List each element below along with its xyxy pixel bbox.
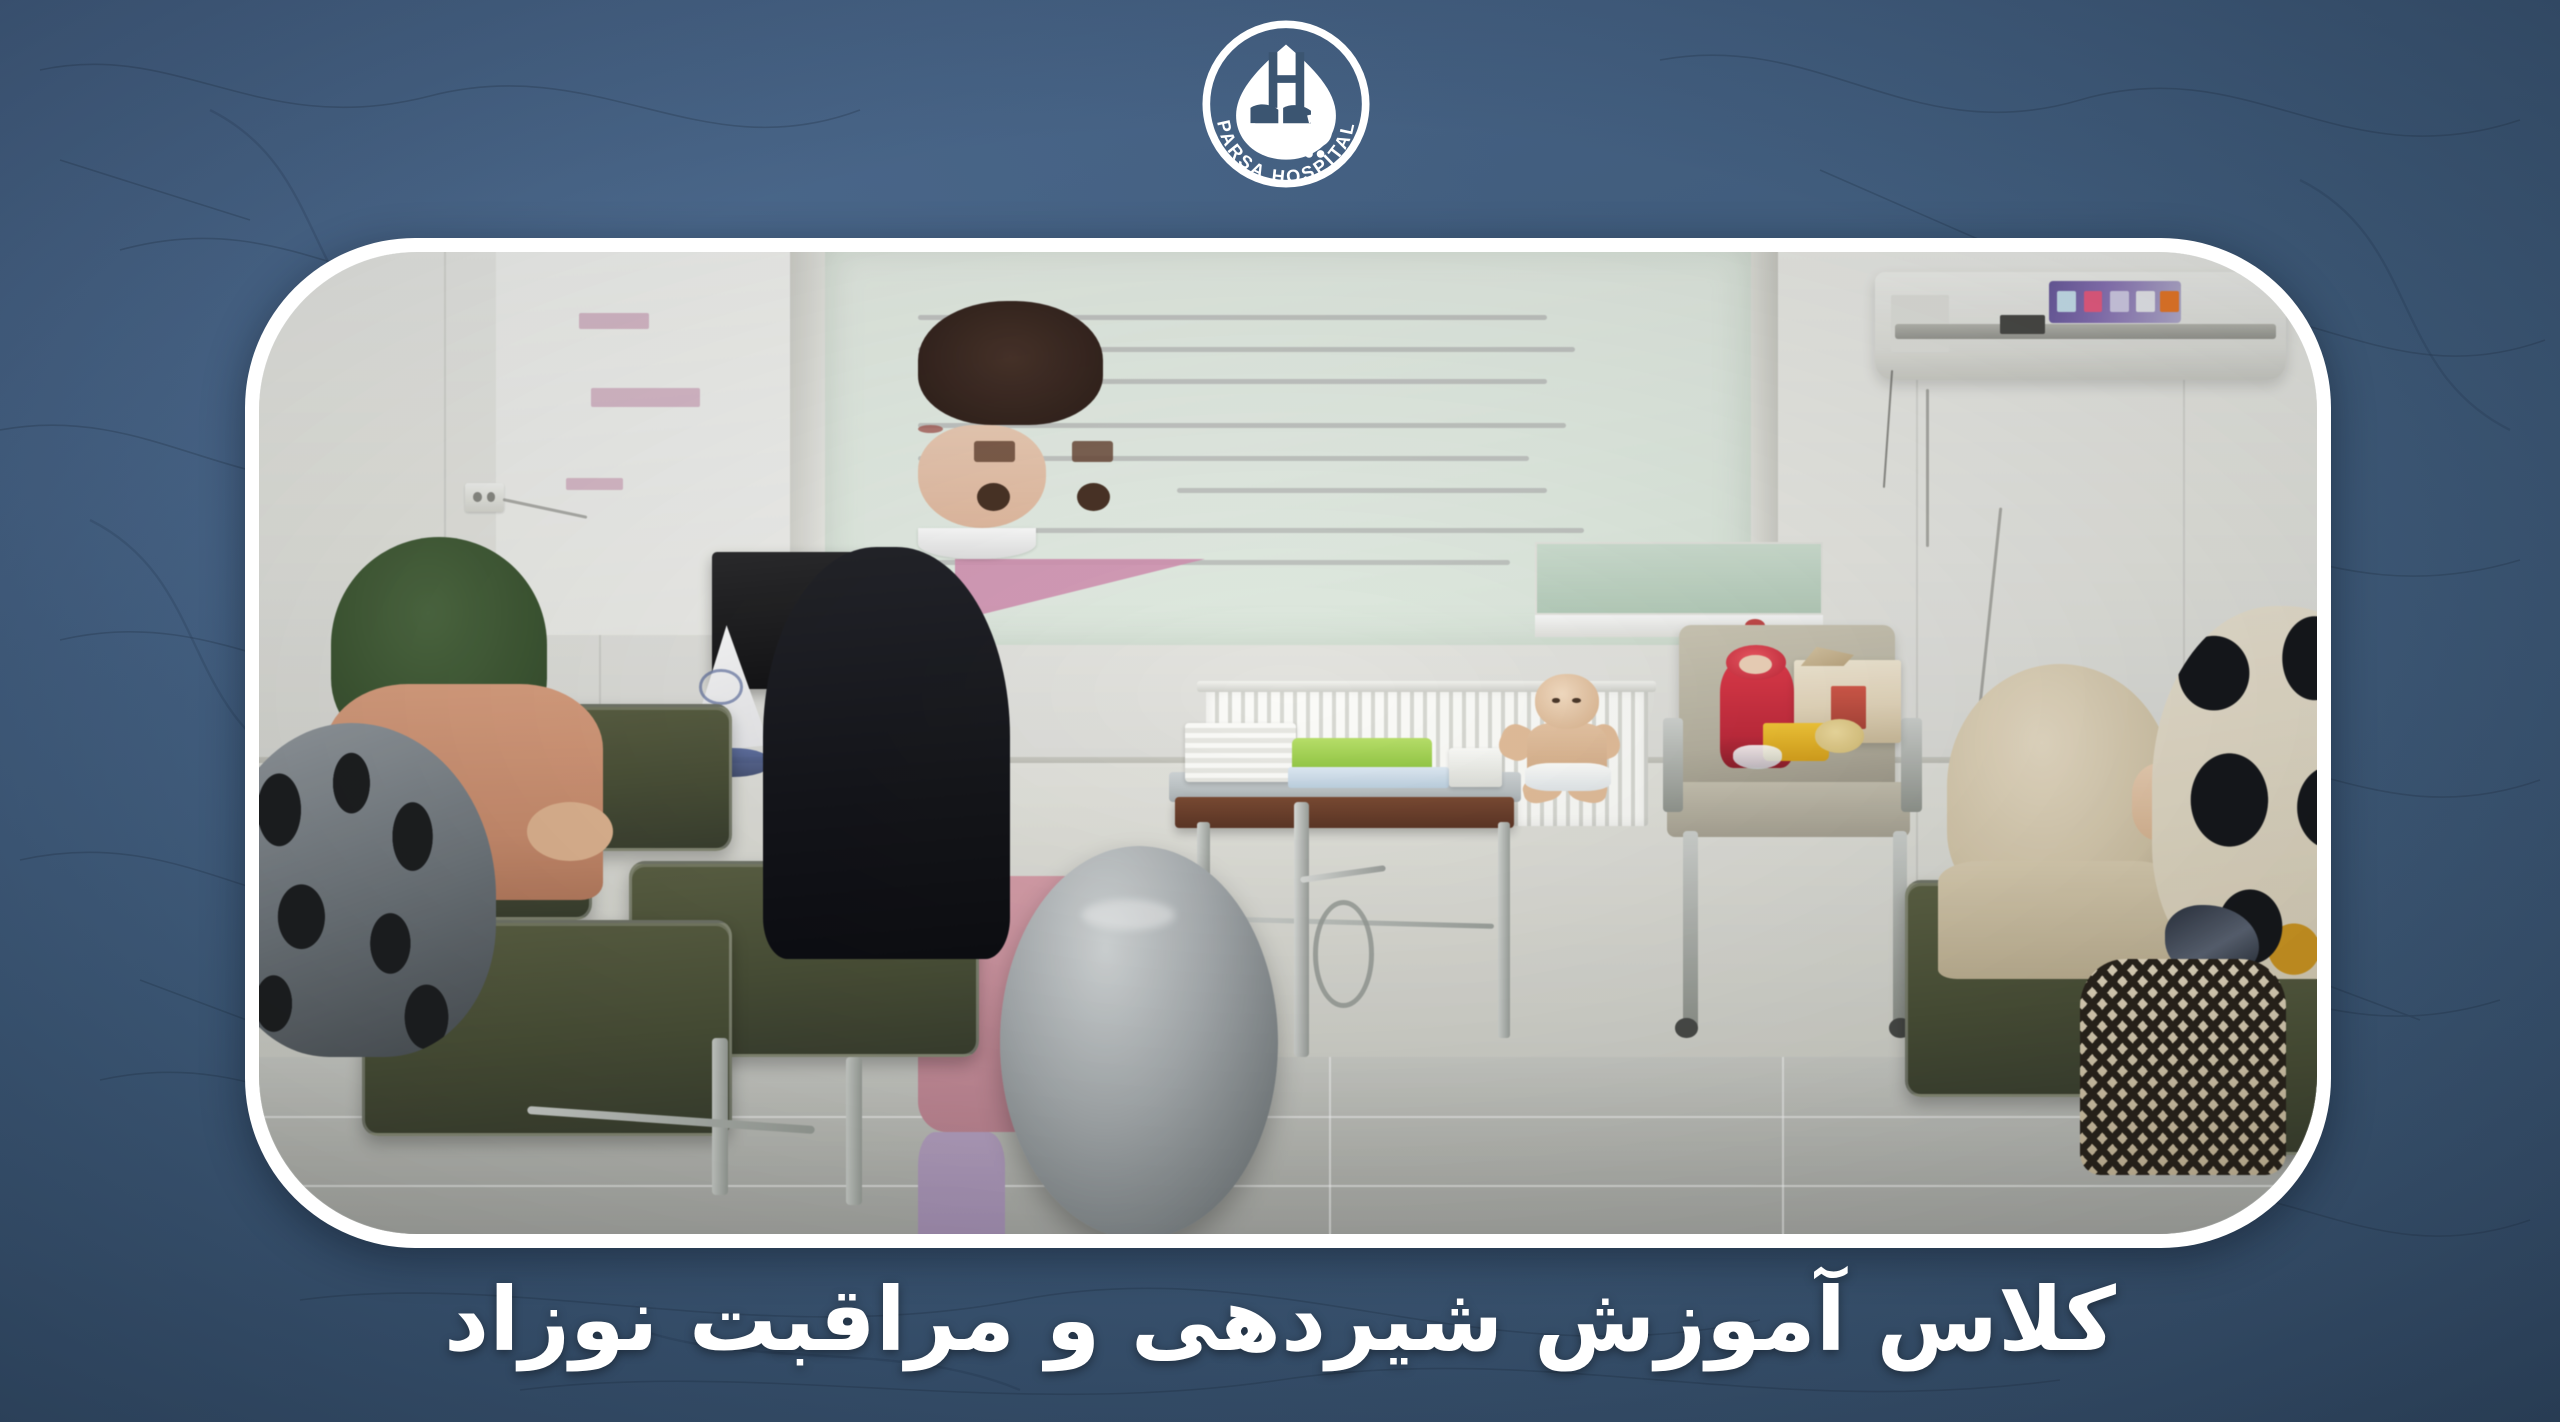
armchair-caster [1675,1018,1698,1038]
classroom-scene [259,252,2317,1234]
armchair-leg [1683,831,1697,1027]
floor-tile-line [1329,1057,1331,1234]
armchair-seat [1667,782,1910,837]
presenter-hair [918,301,1103,425]
presenter-inner-top [918,1132,1005,1234]
wall-board [1535,542,1823,616]
floor-tile-line [1782,1057,1784,1234]
doll-diaper [1525,763,1611,791]
chair-leg [712,1038,728,1195]
photo-card [245,238,2331,1248]
armchair-armrest [1901,718,1922,811]
tissue-box [1449,748,1503,787]
wheelchair-frame [1294,802,1308,1057]
presenter-mouth [918,425,944,433]
wall-socket [465,483,504,512]
class-photograph [259,252,2317,1234]
ac-display-panel [2049,281,2181,322]
attendee-hand [527,802,613,861]
floor-tile-line [259,1185,2317,1187]
presenter-face-mask [918,528,1036,559]
poster-canvas: PARSA HOSPITAL [0,0,2560,1422]
plush-toy [1815,719,1864,752]
ac-vent [1895,324,2276,340]
parsa-hospital-logo: PARSA HOSPITAL [1190,8,1382,200]
attendee-black-chador [763,547,1010,959]
blue-pad [1288,767,1449,789]
folded-towels [1185,723,1296,782]
wheelchair-wheel [1313,900,1375,1008]
chair-leg [846,1057,862,1204]
baby-doll-head [1535,674,1599,729]
table-leg [1498,822,1510,1038]
page-title: کلاس آموزش شیردهی و مراقبت نوزاد [0,1272,2560,1367]
supply-table-edge [1175,797,1515,828]
wall-cord [1926,389,1929,546]
presenter-face [918,425,1047,528]
attendee-knit-sleeve [2080,959,2286,1175]
feeding-bottle [1733,745,1782,769]
red-doll-face [1739,655,1772,675]
ac-bracket [2000,315,2045,335]
pennant-emblem [699,669,742,704]
exercise-ball-highlight [1082,900,1175,929]
armchair-armrest [1663,718,1684,811]
